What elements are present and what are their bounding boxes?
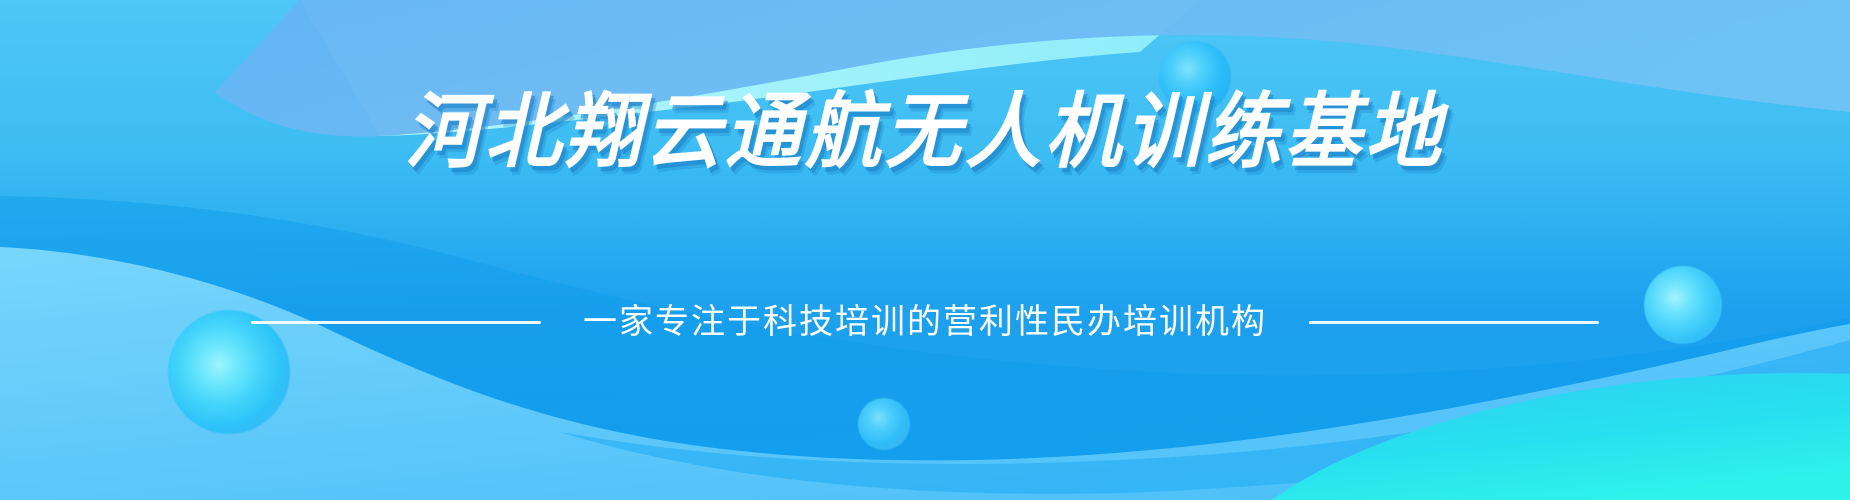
banner-title: 河北翔云通航无人机训练基地 — [0, 92, 1850, 174]
banner-content: 河北翔云通航无人机训练基地 一家专注于科技培训的营利性民办培训机构 — [0, 0, 1850, 500]
banner-subtitle: 一家专注于科技培训的营利性民办培训机构 — [583, 304, 1267, 341]
hero-banner: 河北翔云通航无人机训练基地 一家专注于科技培训的营利性民办培训机构 — [0, 0, 1850, 500]
rule-left-divider — [251, 321, 541, 324]
banner-subtitle-row: 一家专注于科技培训的营利性民办培训机构 — [0, 304, 1850, 341]
rule-right-divider — [1309, 321, 1599, 324]
